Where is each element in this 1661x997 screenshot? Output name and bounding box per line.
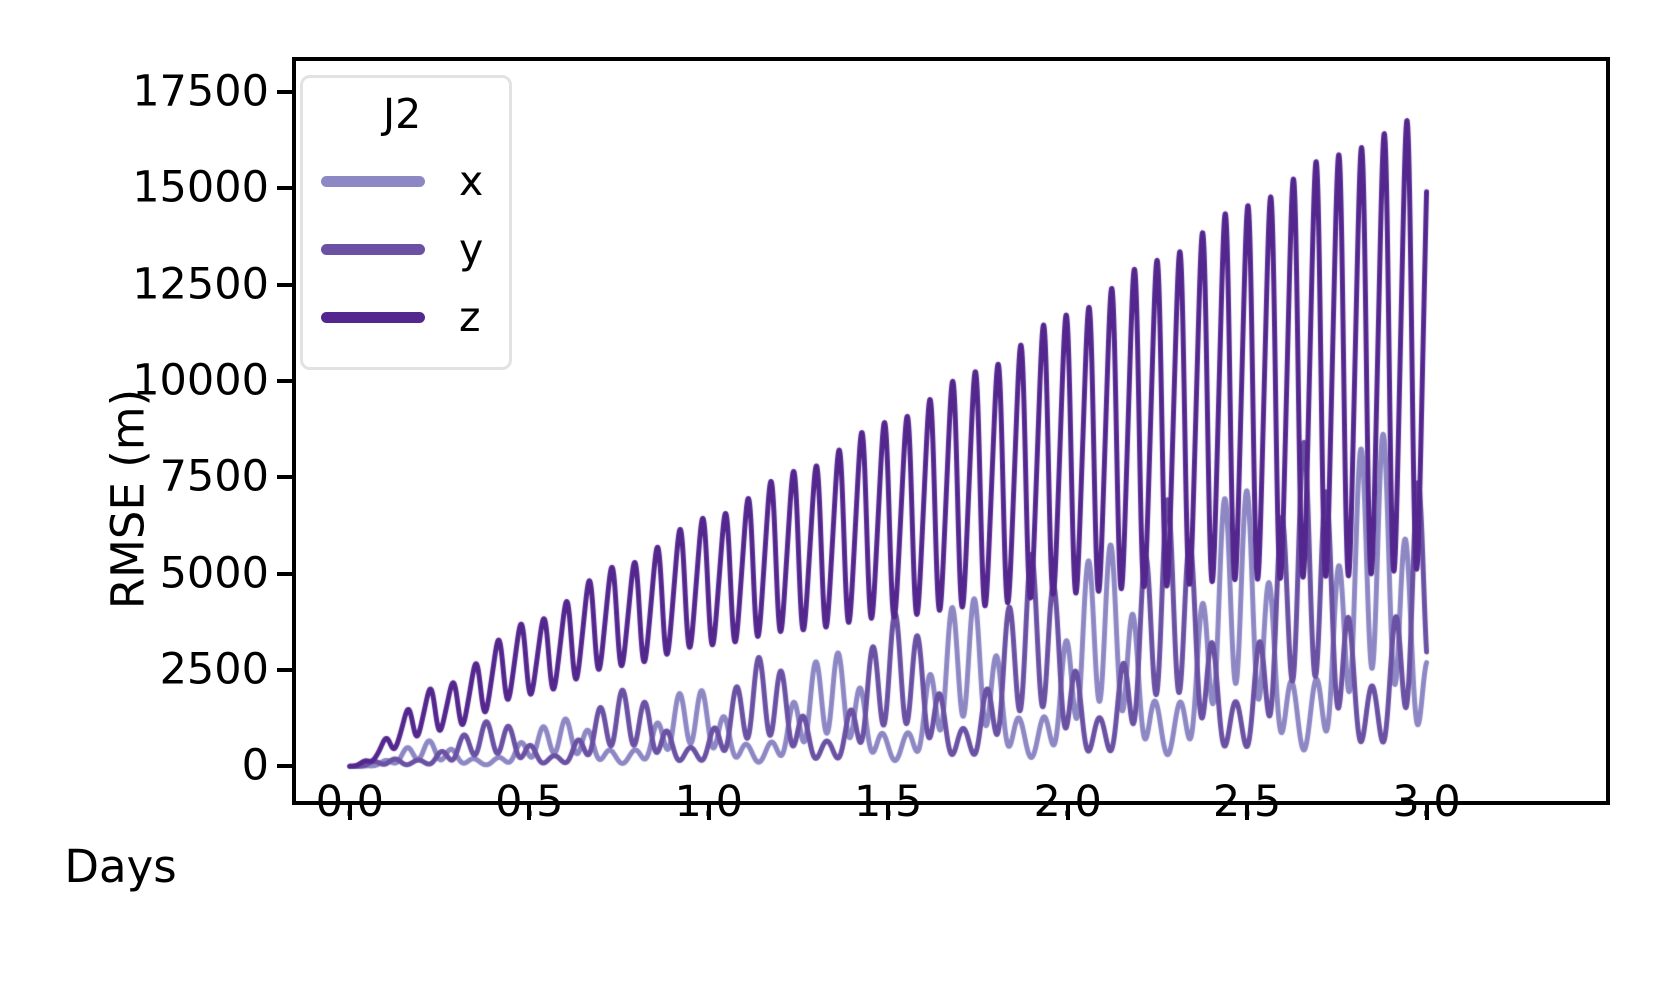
y-axis-label: RMSE (m) [102, 388, 155, 608]
legend-entries: xyz [321, 147, 483, 351]
x-axis-label: Days [0, 840, 1661, 893]
x-tick-mark [527, 805, 531, 820]
y-tick-label: 10000 [132, 359, 269, 402]
y-tick-mark [277, 186, 292, 190]
y-tick-mark [277, 764, 292, 768]
y-tick-label: 5000 [160, 552, 269, 595]
x-tick-mark [886, 805, 890, 820]
figure-chart-rmse-j2: RMSE (m) 0250050007500100001250015000175… [0, 0, 1661, 997]
y-tick-mark [277, 475, 292, 479]
legend: J2 xyz [300, 75, 512, 370]
x-axis-label-text: Days [64, 840, 176, 893]
legend-entry-label: y [459, 229, 483, 270]
y-tick-label: 17500 [132, 70, 269, 113]
y-tick-mark [277, 379, 292, 383]
legend-line-swatch [321, 312, 425, 323]
legend-entry-x: x [321, 147, 483, 215]
x-tick-mark [1425, 805, 1429, 820]
legend-entry-y: y [321, 215, 483, 283]
y-tick-label: 2500 [160, 648, 269, 691]
x-tick-mark [1245, 805, 1249, 820]
legend-entry-label: z [459, 297, 481, 338]
y-tick-mark [277, 572, 292, 576]
legend-title: J2 [321, 92, 483, 137]
y-tick-mark [277, 668, 292, 672]
legend-entry-label: x [459, 161, 483, 202]
y-tick-label: 12500 [132, 263, 269, 306]
y-tick-label: 15000 [132, 167, 269, 210]
y-tick-label: 7500 [160, 456, 269, 499]
x-tick-mark [348, 805, 352, 820]
x-tick-mark [1066, 805, 1070, 820]
legend-entry-z: z [321, 283, 483, 351]
y-tick-label: 0 [242, 745, 269, 788]
legend-line-swatch [321, 176, 425, 187]
legend-line-swatch [321, 244, 425, 255]
y-tick-mark [277, 90, 292, 94]
y-tick-mark [277, 283, 292, 287]
x-tick-mark [707, 805, 711, 820]
